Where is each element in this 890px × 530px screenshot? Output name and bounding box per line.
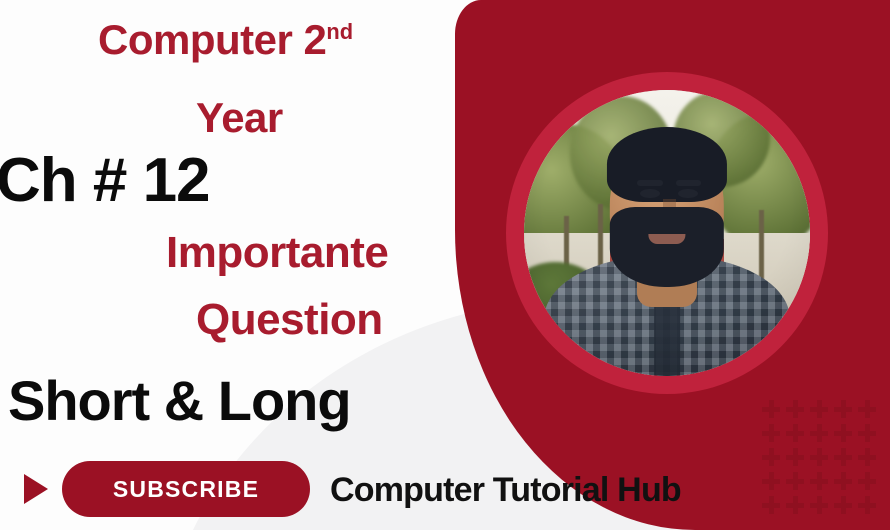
plus-icon — [834, 400, 852, 418]
plus-icon — [858, 424, 876, 442]
portrait-photo — [524, 90, 810, 376]
plus-icon — [762, 448, 780, 466]
plus-icon — [834, 496, 852, 514]
plus-icon — [762, 424, 780, 442]
subscribe-button[interactable]: SUBSCRIBE — [62, 461, 310, 517]
plus-icon — [810, 448, 828, 466]
headline-emphasis-1: Importante — [166, 228, 388, 278]
headline-scope: Short & Long — [8, 368, 351, 433]
plus-icon — [810, 424, 828, 442]
plus-icon — [786, 424, 804, 442]
youtube-thumbnail: Computer 2nd Year Ch # 12 Importante Que… — [0, 0, 890, 530]
headline-emphasis-2: Question — [196, 295, 383, 345]
plus-icon — [762, 496, 780, 514]
plus-pattern-decoration — [762, 400, 876, 514]
plus-icon — [834, 448, 852, 466]
plus-icon — [858, 472, 876, 490]
plus-icon — [834, 424, 852, 442]
plus-icon — [834, 472, 852, 490]
plus-icon — [786, 448, 804, 466]
plus-icon — [810, 472, 828, 490]
plus-icon — [858, 496, 876, 514]
plus-icon — [858, 448, 876, 466]
plus-icon — [810, 496, 828, 514]
headline-subject: Computer 2nd — [98, 16, 353, 64]
plus-icon — [762, 400, 780, 418]
plus-icon — [786, 472, 804, 490]
plus-icon — [786, 496, 804, 514]
photo-vignette — [524, 90, 810, 376]
headline-subject-superscript: nd — [326, 19, 353, 44]
plus-icon — [786, 400, 804, 418]
plus-icon — [858, 400, 876, 418]
headline-subject-line-2: Year — [196, 94, 283, 142]
play-triangle-icon — [24, 474, 48, 504]
portrait-ring — [506, 72, 828, 394]
headline-chapter: Ch # 12 — [0, 145, 210, 216]
headline-subject-text: Computer 2 — [98, 16, 326, 63]
channel-name: Computer Tutorial Hub — [330, 471, 681, 510]
plus-icon — [762, 472, 780, 490]
plus-icon — [810, 400, 828, 418]
